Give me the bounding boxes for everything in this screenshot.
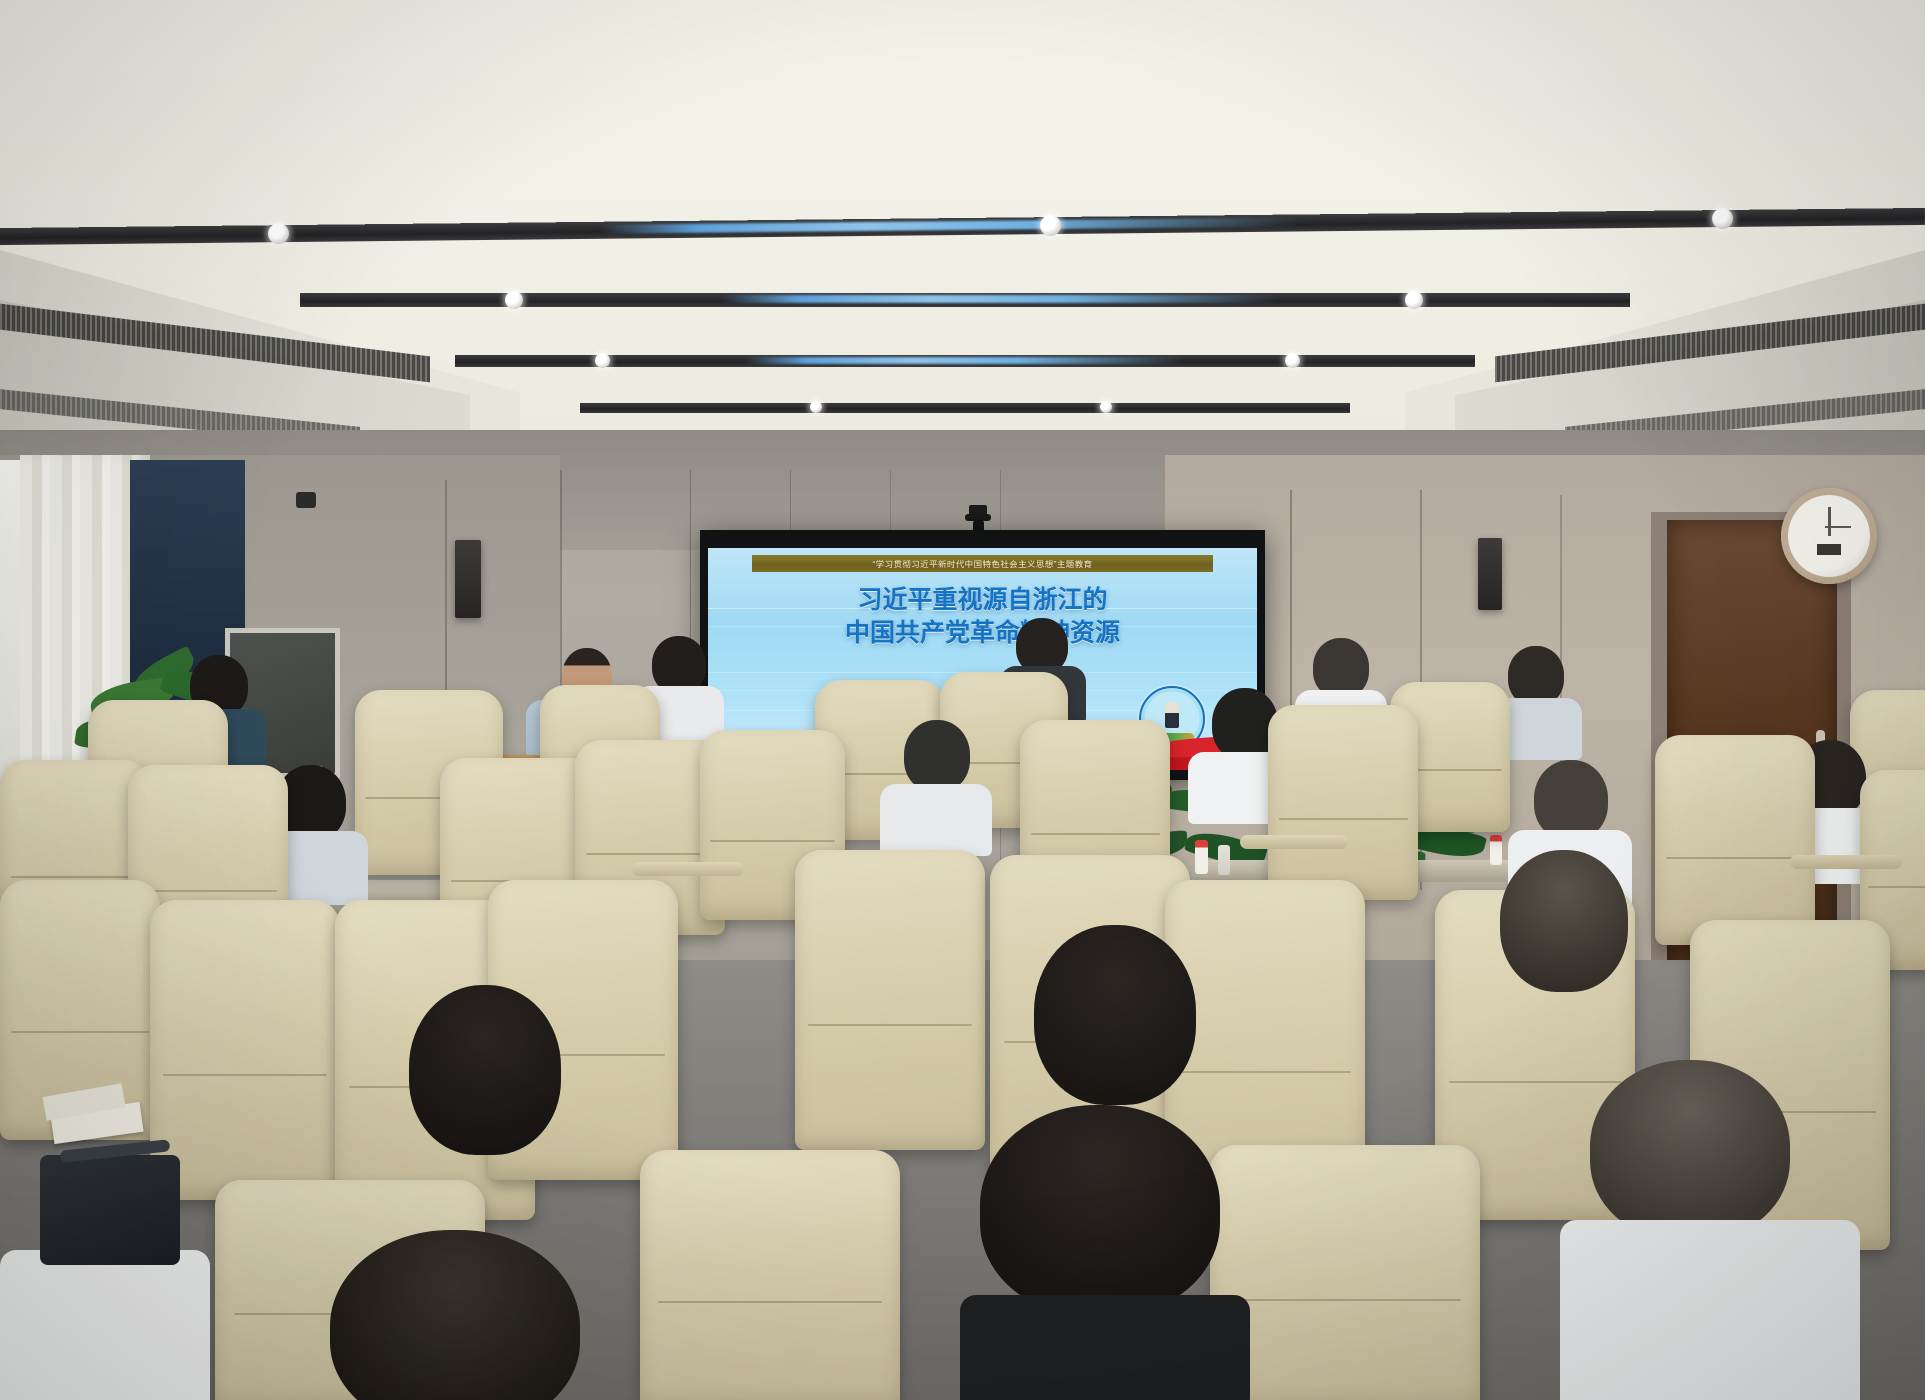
ceiling-light-rail xyxy=(580,403,1350,413)
chair-armrest xyxy=(632,862,744,876)
ceiling-downlight xyxy=(1100,401,1112,413)
audience-chair[interactable] xyxy=(795,850,985,1150)
audience-member xyxy=(0,1250,210,1400)
clock-brand-mark xyxy=(1817,544,1841,555)
ceiling-downlight xyxy=(1040,215,1061,236)
ceiling-downlight xyxy=(505,291,523,309)
photo-scene: “学习贯彻习近平新时代中国特色社会主义思想”主题教育 习近平重视源自浙江的 中国… xyxy=(0,0,1925,1400)
blue-light-strip xyxy=(600,217,1300,233)
ceiling-downlight xyxy=(1405,291,1423,309)
chair-armrest xyxy=(1240,835,1348,849)
wall-speaker xyxy=(455,540,481,618)
audience-member xyxy=(980,1105,1240,1400)
ceiling-camera xyxy=(296,492,316,508)
slide-banner-text: “学习贯彻习近平新时代中国特色社会主义思想”主题教育 xyxy=(872,558,1092,569)
wall-clock xyxy=(1781,488,1877,584)
ceiling-downlight xyxy=(1712,208,1733,229)
wall-speaker xyxy=(1478,538,1502,610)
audience-chair[interactable] xyxy=(1268,705,1418,900)
shoulder-bag xyxy=(40,1155,180,1265)
audience-member xyxy=(1490,850,1640,1050)
audience-chair[interactable] xyxy=(1210,1145,1480,1400)
audience-chair[interactable] xyxy=(1655,735,1815,945)
ceiling-downlight xyxy=(595,353,610,368)
blue-light-strip xyxy=(720,295,1280,303)
audience-chair[interactable] xyxy=(150,900,340,1200)
audience-chair[interactable] xyxy=(640,1150,900,1400)
ceiling-downlight xyxy=(810,401,822,413)
audience-member xyxy=(395,985,575,1205)
audience-member xyxy=(880,720,992,852)
slide-title: 习近平重视源自浙江的 中国共产党革命精神资源 xyxy=(708,584,1257,650)
ceiling-light-rail xyxy=(455,355,1475,367)
water-bottle xyxy=(1218,845,1230,875)
slide-title-line1: 习近平重视源自浙江的 xyxy=(708,584,1257,617)
audience-member xyxy=(330,1230,580,1400)
water-bottle xyxy=(1195,840,1208,874)
ceiling-downlight xyxy=(1285,353,1300,368)
blue-light-strip xyxy=(745,357,1185,364)
ceiling-light-rail xyxy=(300,293,1630,307)
ceiling-downlight xyxy=(268,223,289,244)
audience-member xyxy=(1560,1060,1860,1400)
slide-banner: “学习贯彻习近平新时代中国特色社会主义思想”主题教育 xyxy=(752,555,1213,572)
chair-armrest xyxy=(1790,855,1902,869)
slide-title-line2: 中国共产党革命精神资源 xyxy=(708,617,1257,650)
